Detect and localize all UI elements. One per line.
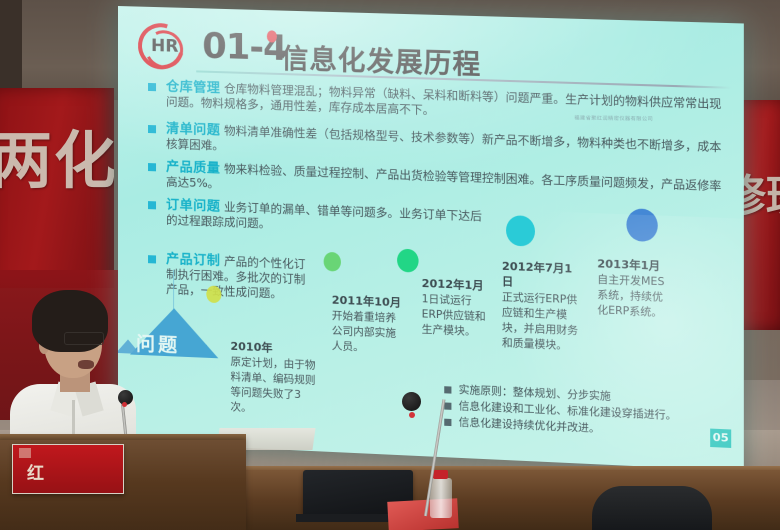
hr-logo-icon: HR [138,23,184,70]
banner-left: 两化融 [0,88,114,288]
chair-back [592,486,712,530]
timeline-entry: 2013年1月 自主开发MES系统，持续优化ERP系统。 [597,256,672,321]
timeline-dot [324,252,341,272]
water-bottle-cap [433,470,448,479]
microphone-head [402,392,421,411]
presenter-mouth [78,360,94,369]
wall-dark-column [0,0,22,92]
summary-list: 实施原则：整体规划、分步实施 信息化建设和工业化、标准化建设穿插进行。 信息化建… [444,382,676,441]
problem-item: 订单问题 业务订单的漏单、错单等问题多。业务订单下达后的过程跟踪成问题。 [148,197,483,240]
triangle-label: 问题 [136,329,180,358]
hr-logo-text: HR [151,36,178,57]
banner-left-text: 两化融 [0,110,114,200]
timeline-dot [397,249,419,273]
conference-room-scene: 两化融 修班 HR 01-4 信息化发展历程 福建省聚红润精密仪器有限公司 仓库… [0,0,780,530]
triangle-connector [173,270,174,310]
nameplate-emblem-icon [19,448,31,458]
timeline-dot [206,286,221,304]
nameplate: 红 [12,444,124,494]
presenter-glasses [64,332,104,345]
nameplate-text: 红 [27,459,62,484]
microphone-indicator [409,412,415,418]
timeline-entry: 2011年10月 开始着重培养公司内部实施人员。 [332,293,405,358]
timeline-dot [506,215,535,247]
page-number-badge: 05 [710,429,731,448]
timeline-entry: 2012年1月 1日试运行ERP供应链和生产模块。 [422,276,492,341]
microphone-indicator-left [122,402,127,407]
problem-item: 仓库管理 仓库物料管理混乱；物料异常（缺料、呆料和断料等）问题严重。生产计划的物… [148,79,723,128]
timeline-dot [626,208,657,242]
projection-screen: HR 01-4 信息化发展历程 福建省聚红润精密仪器有限公司 仓库管理 仓库物料… [118,6,744,471]
water-bottle [430,478,452,518]
timeline-entry: 2012年7月1日 正式运行ERP供应链和生产模块，并启用财务和质量模块。 [502,259,579,355]
bullet-square-icon [444,386,451,393]
timeline-entry: 2010年 原定计划，由于物料清单、编码规则等问题失败了3次。 [230,339,317,419]
number-accent-dot-icon [267,30,277,42]
bullet-square-icon [444,419,451,426]
bullet-square-icon [444,402,451,409]
